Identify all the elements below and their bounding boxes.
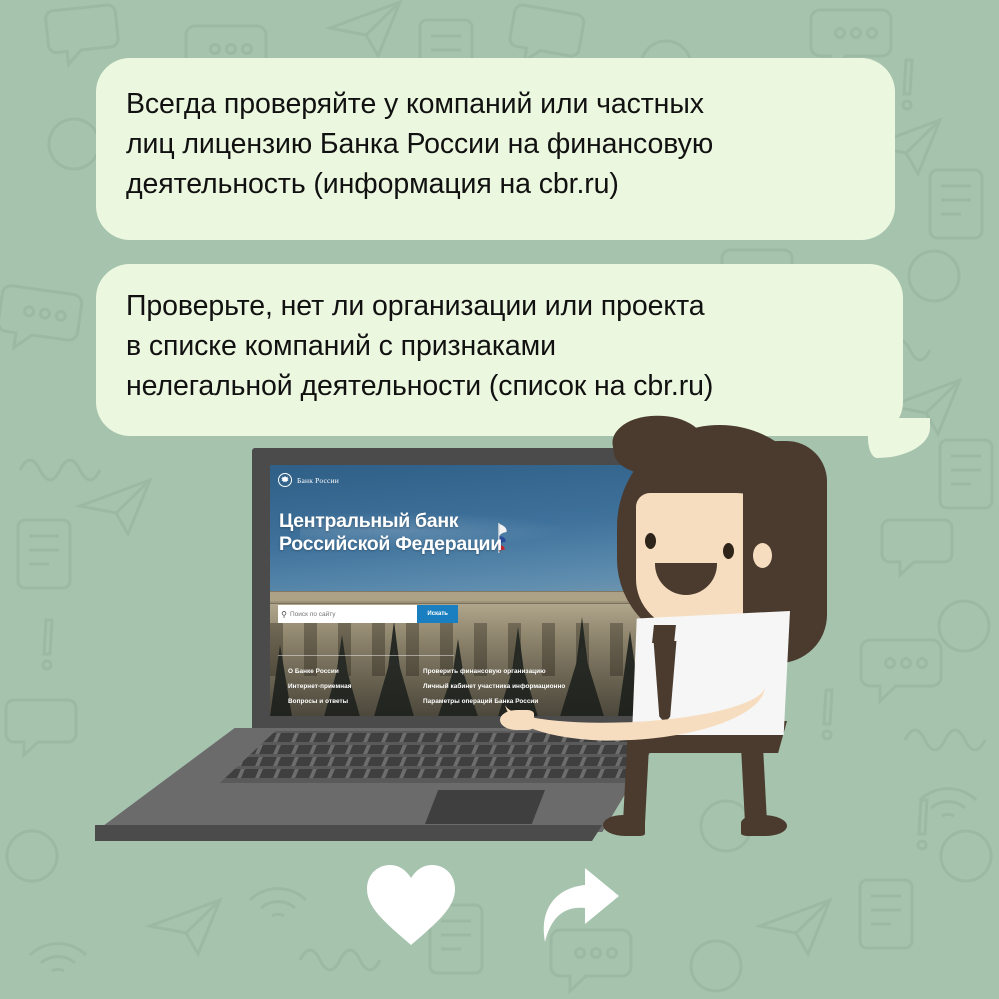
laptop-trackpad[interactable] (425, 790, 545, 824)
shoe-right (741, 815, 787, 836)
quick-link[interactable]: О Банке России (288, 668, 401, 675)
heart-icon[interactable] (365, 863, 457, 947)
social-actions (365, 858, 615, 948)
eye-right (723, 543, 734, 559)
quick-link[interactable]: Вопросы и ответы (288, 698, 401, 705)
laptop-base (95, 728, 665, 848)
tip-bubble-license: Всегда проверяйте у компаний или частных… (96, 58, 895, 240)
laptop-illustration: Банк России Центральный банк Российской … (95, 448, 665, 848)
site-hero-title: Центральный банк Российской Федерации (279, 510, 599, 556)
ear (753, 543, 772, 568)
site-search-bar[interactable]: ⚲ Искать (278, 605, 458, 623)
tie-knot (652, 625, 676, 643)
search-submit-button[interactable]: Искать (417, 605, 458, 623)
pointing-hand (500, 710, 534, 730)
divider (278, 655, 454, 656)
search-icon: ⚲ (278, 610, 290, 619)
tip-bubble-blacklist: Проверьте, нет ли организации или проект… (96, 264, 903, 436)
shoe-left (603, 815, 645, 836)
laptop-base-edge (95, 825, 665, 841)
tip-text: Всегда проверяйте у компаний или частных… (96, 58, 895, 204)
quick-links-column-1: О Банке России Интернет-приемная Вопросы… (288, 668, 401, 705)
site-logo[interactable]: Банк России (278, 473, 339, 487)
search-input[interactable] (290, 611, 417, 618)
eye-left (645, 533, 656, 549)
cartoon-businessman (595, 415, 855, 840)
quick-link[interactable]: Интернет-приемная (288, 683, 401, 690)
site-logo-label: Банк России (297, 476, 339, 485)
share-arrow-icon[interactable] (533, 866, 619, 944)
double-headed-eagle-emblem-icon (278, 473, 292, 487)
tip-text: Проверьте, нет ли организации или проект… (96, 264, 903, 406)
